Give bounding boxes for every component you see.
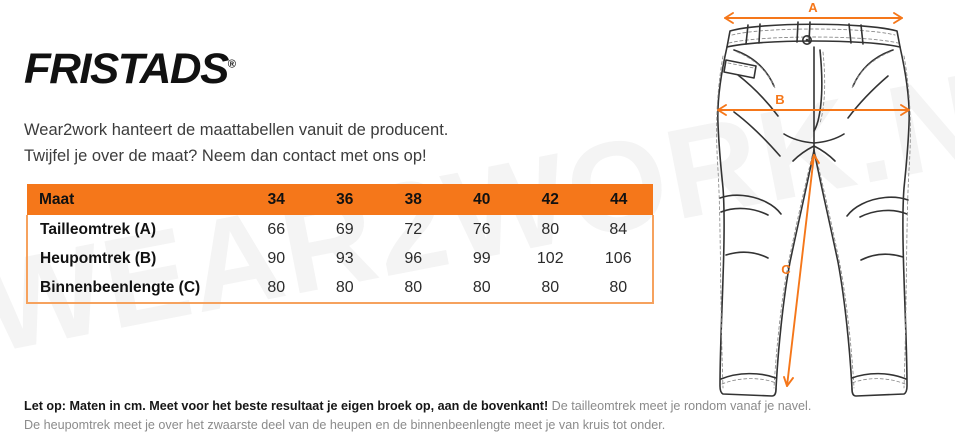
dimension-label-a: A (808, 0, 818, 15)
cell-tailleomtrek-44: 84 (585, 215, 654, 244)
cell-binnenbeenlengte-34: 80 (242, 273, 311, 303)
column-header-44: 44 (585, 184, 654, 215)
brand-name: FRISTADS (24, 45, 228, 93)
cell-heupomtrek-42: 102 (516, 244, 585, 273)
cell-tailleomtrek-38: 72 (379, 215, 448, 244)
footnote-bold: Let op: Maten in cm. Meet voor het beste… (24, 399, 548, 413)
cell-tailleomtrek-36: 69 (311, 215, 380, 244)
dimension-label-b: B (775, 92, 784, 107)
trousers-diagram: A B C (690, 0, 955, 415)
size-table-body: Tailleomtrek (A) 66 69 72 76 80 84 Heupo… (27, 215, 653, 303)
cell-heupomtrek-40: 99 (448, 244, 517, 273)
cell-binnenbeenlengte-36: 80 (311, 273, 380, 303)
column-header-42: 42 (516, 184, 585, 215)
column-header-34: 34 (242, 184, 311, 215)
intro-paragraph: Wear2work hanteert de maattabellen vanui… (24, 117, 644, 169)
cell-binnenbeenlengte-40: 80 (448, 273, 517, 303)
dimension-arrow-c-line (787, 155, 814, 386)
cell-binnenbeenlengte-44: 80 (585, 273, 654, 303)
size-table: Maat 34 36 38 40 42 44 Tailleomtrek (A) … (26, 184, 654, 304)
cell-tailleomtrek-42: 80 (516, 215, 585, 244)
table-header-row: Maat 34 36 38 40 42 44 (27, 184, 653, 215)
cell-tailleomtrek-34: 66 (242, 215, 311, 244)
registered-trademark-icon: ® (228, 59, 236, 71)
row-label-binnenbeenlengte: Binnenbeenlengte (C) (27, 273, 242, 303)
size-table-header: Maat 34 36 38 40 42 44 (27, 184, 653, 215)
dimension-label-c: C (781, 262, 791, 277)
column-header-maat: Maat (27, 184, 242, 215)
footnote-rest-2: De heupomtrek meet je over het zwaarste … (24, 416, 936, 435)
intro-line-2: Twijfel je over de maat? Neem dan contac… (24, 143, 644, 169)
cell-heupomtrek-38: 96 (379, 244, 448, 273)
cell-binnenbeenlengte-38: 80 (379, 273, 448, 303)
column-header-36: 36 (311, 184, 380, 215)
size-table-container: Maat 34 36 38 40 42 44 Tailleomtrek (A) … (26, 184, 652, 304)
cell-heupomtrek-44: 106 (585, 244, 654, 273)
column-header-38: 38 (379, 184, 448, 215)
column-header-40: 40 (448, 184, 517, 215)
cell-heupomtrek-36: 93 (311, 244, 380, 273)
table-row: Binnenbeenlengte (C) 80 80 80 80 80 80 (27, 273, 653, 303)
fristads-logo: FRISTADS® (24, 48, 236, 91)
intro-line-1: Wear2work hanteert de maattabellen vanui… (24, 117, 644, 143)
cell-heupomtrek-34: 90 (242, 244, 311, 273)
table-row: Heupomtrek (B) 90 93 96 99 102 106 (27, 244, 653, 273)
cell-tailleomtrek-40: 76 (448, 215, 517, 244)
cell-binnenbeenlengte-42: 80 (516, 273, 585, 303)
row-label-heupomtrek: Heupomtrek (B) (27, 244, 242, 273)
row-label-tailleomtrek: Tailleomtrek (A) (27, 215, 242, 244)
table-row: Tailleomtrek (A) 66 69 72 76 80 84 (27, 215, 653, 244)
